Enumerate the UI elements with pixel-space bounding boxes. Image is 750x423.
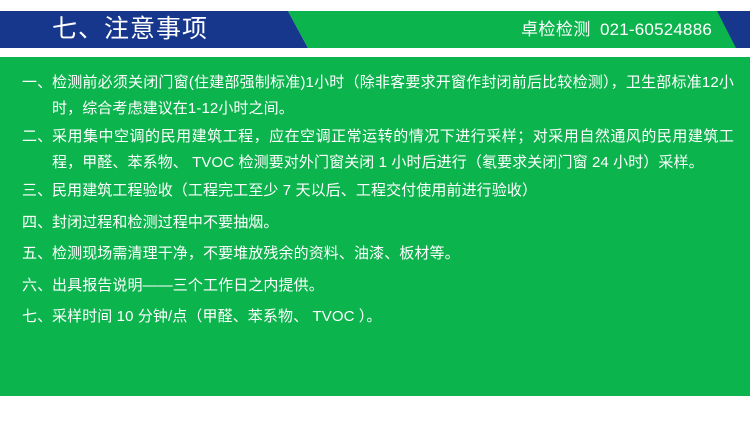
brand-name: 卓检检测 (521, 20, 591, 39)
list-item: 二、 采用集中空调的民用建筑工程，应在空调正常运转的情况下进行采样；对采用自然通… (22, 124, 734, 175)
list-item-text: 检测前必须关闭门窗(住建部强制标准)1小时（除非客要求开窗作封闭前后比较检测），… (52, 70, 734, 121)
notes-list: 一、 检测前必须关闭门窗(住建部强制标准)1小时（除非客要求开窗作封闭前后比较检… (0, 57, 750, 330)
list-item-marker: 一、 (22, 70, 52, 96)
brand-contact: 卓检检测021-60524886 (521, 11, 712, 48)
notice-page: 七、注意事项 卓检检测021-60524886 一、 检测前必须关闭门窗(住建部… (0, 0, 750, 423)
list-item-text: 采样时间 10 分钟/点（甲醛、苯系物、 TVOC ）。 (52, 304, 734, 330)
list-item: 五、 检测现场需清理干净，不要堆放残余的资料、油漆、板材等。 (22, 241, 734, 267)
list-item: 三、 民用建筑工程验收（工程完工至少 7 天以后、工程交付使用前进行验收） (22, 178, 734, 204)
list-item-text: 出具报告说明——三个工作日之内提供。 (52, 273, 734, 299)
page-title: 七、注意事项 (52, 11, 208, 48)
list-item-marker: 四、 (22, 210, 52, 236)
list-item: 一、 检测前必须关闭门窗(住建部强制标准)1小时（除非客要求开窗作封闭前后比较检… (22, 70, 734, 121)
list-item-marker: 三、 (22, 178, 52, 204)
brand-phone: 021-60524886 (600, 20, 712, 39)
list-item-text: 采用集中空调的民用建筑工程，应在空调正常运转的情况下进行采样；对采用自然通风的民… (52, 124, 734, 175)
list-item-marker: 二、 (22, 124, 52, 150)
list-item-marker: 六、 (22, 273, 52, 299)
list-item: 六、 出具报告说明——三个工作日之内提供。 (22, 273, 734, 299)
list-item-marker: 五、 (22, 241, 52, 267)
list-item-text: 民用建筑工程验收（工程完工至少 7 天以后、工程交付使用前进行验收） (52, 178, 734, 204)
list-item-text: 检测现场需清理干净，不要堆放残余的资料、油漆、板材等。 (52, 241, 734, 267)
list-item-text: 封闭过程和检测过程中不要抽烟。 (52, 210, 734, 236)
notes-panel: 一、 检测前必须关闭门窗(住建部强制标准)1小时（除非客要求开窗作封闭前后比较检… (0, 57, 750, 396)
list-item-marker: 七、 (22, 304, 52, 330)
list-item: 七、 采样时间 10 分钟/点（甲醛、苯系物、 TVOC ）。 (22, 304, 734, 330)
list-item: 四、 封闭过程和检测过程中不要抽烟。 (22, 210, 734, 236)
